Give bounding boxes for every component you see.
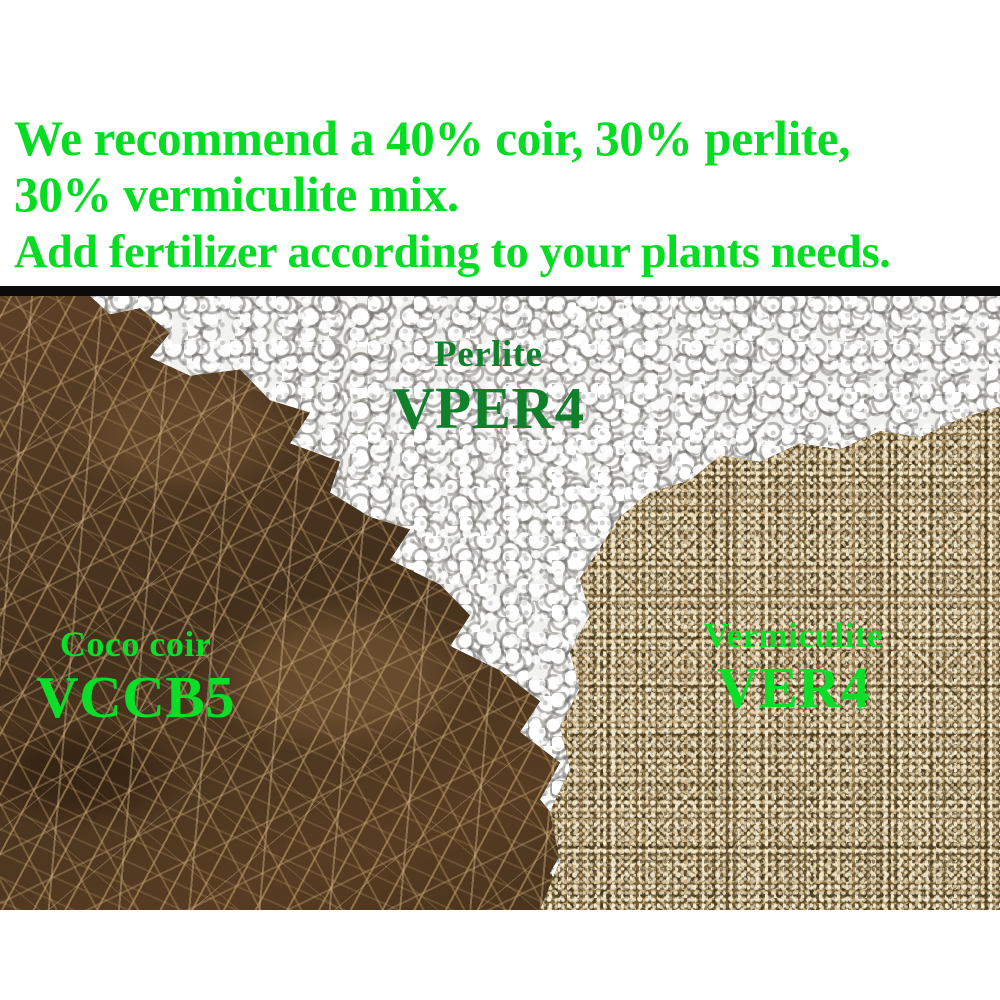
coco-coir-label-code: VCCB5 bbox=[36, 667, 235, 727]
perlite-label: Perlite VPER4 bbox=[392, 336, 585, 438]
vermiculite-label-name: Vermiculite bbox=[704, 618, 883, 654]
vermiculite-label: Vermiculite VER4 bbox=[704, 618, 883, 717]
growing-media-poster: We recommend a 40% coir, 30% perlite, 30… bbox=[0, 0, 1000, 1000]
coco-coir-label: Coco coir VCCB5 bbox=[36, 626, 235, 727]
vermiculite-label-code: VER4 bbox=[704, 658, 883, 717]
recommendation-line-3: Add fertilizer according to your plants … bbox=[14, 226, 890, 278]
perlite-label-name: Perlite bbox=[392, 336, 585, 374]
coco-coir-label-name: Coco coir bbox=[36, 626, 235, 663]
recommendation-line-2: 30% vermiculite mix. bbox=[14, 168, 459, 220]
recommendation-header: We recommend a 40% coir, 30% perlite, 30… bbox=[0, 0, 1000, 286]
bottom-whitespace bbox=[0, 910, 1000, 1000]
header-photo-divider bbox=[0, 286, 1000, 296]
perlite-label-code: VPER4 bbox=[392, 378, 585, 438]
recommendation-line-1: We recommend a 40% coir, 30% perlite, bbox=[14, 112, 850, 164]
substrate-photo: Perlite VPER4 Coco coir VCCB5 Vermiculit… bbox=[0, 296, 1000, 910]
